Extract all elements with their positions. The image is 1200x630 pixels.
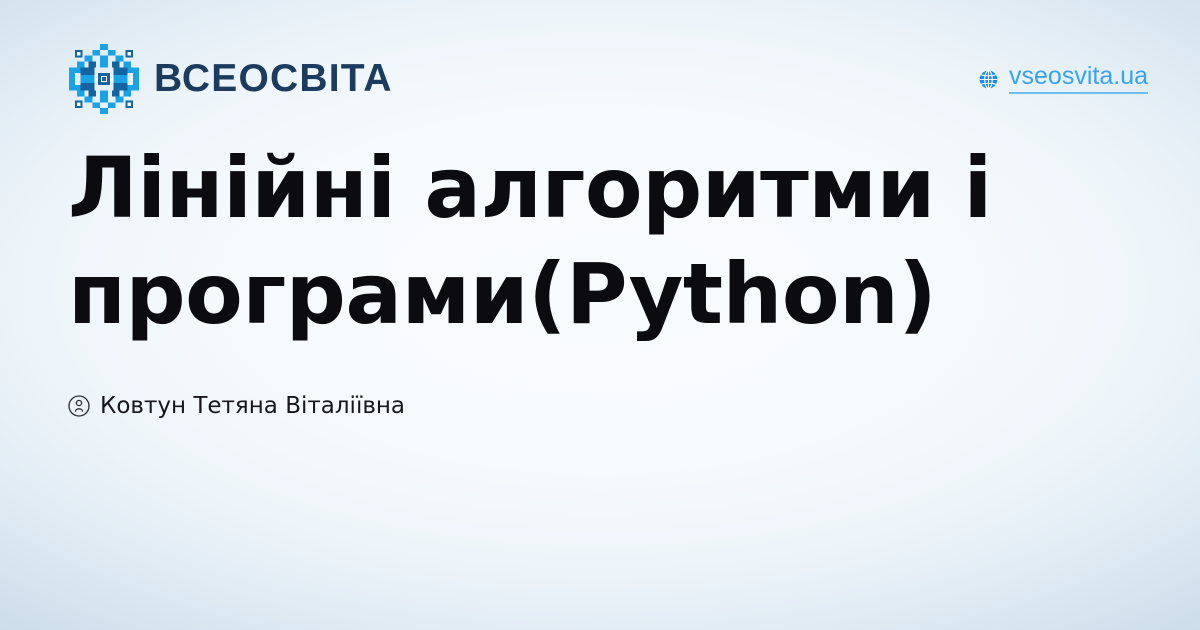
author-byline: Ковтун Тетяна Віталіївна [67,394,405,418]
pixel-snowflake-ornament-icon [68,44,140,114]
brand-wordmark: ВСЕОСВІТА [154,59,393,100]
author-name: Ковтун Тетяна Віталіївна [100,395,405,418]
site-url-text: vseosvita.ua [1009,64,1148,94]
globe-icon [978,69,999,90]
user-circle-icon [67,394,91,418]
site-url-link[interactable]: vseosvita.ua [978,64,1148,94]
page-title: Лінійні алгоритми і програми(Python) [68,136,1028,348]
brand-lockup[interactable]: ВСЕОСВІТА [68,44,393,114]
card-header: ВСЕОСВІТА vseosvita.ua [68,44,1148,114]
og-preview-card: ВСЕОСВІТА vseosvita.ua Лінійні алгоритми… [0,0,1200,630]
